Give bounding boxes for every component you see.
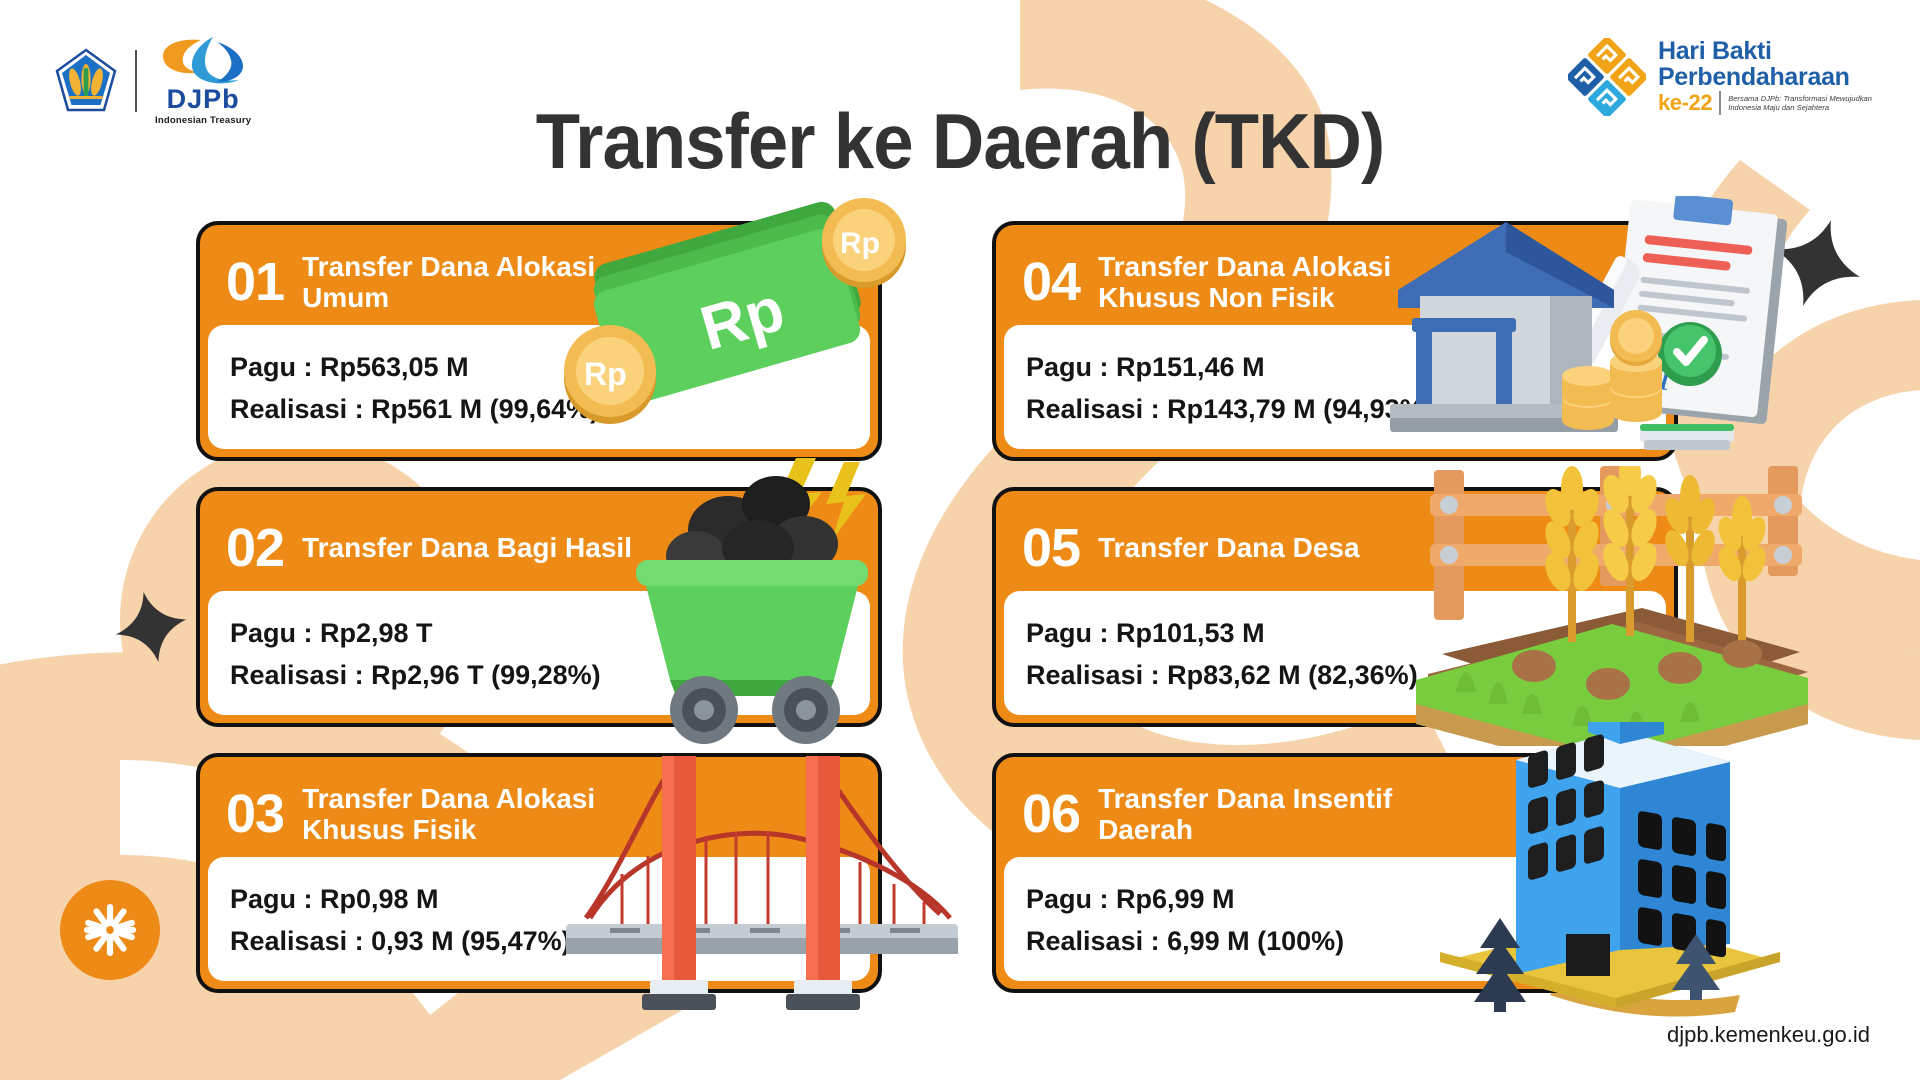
card-05-pagu: Pagu : Rp101,53 M [1026, 613, 1666, 655]
card-01-body: Pagu : Rp563,05 M Realisasi : Rp561 M (9… [208, 325, 870, 449]
djpb-logo: DJPb Indonesian Treasury [155, 36, 251, 126]
hari-bakti-tagline-line2: Indonesia Maju dan Sejahtera [1728, 103, 1872, 112]
card-04-number: 04 [1022, 255, 1080, 309]
card-02[interactable]: 02 Transfer Dana Bagi Hasil Pagu : Rp2,9… [196, 487, 882, 727]
card-01-header: 01 Transfer Dana Alokasi Umum [200, 225, 878, 325]
djpb-tagline: Indonesian Treasury [155, 115, 251, 126]
hari-bakti-line1: Hari Bakti [1658, 39, 1872, 65]
djpb-swoosh-icon [155, 36, 251, 86]
card-02-pagu: Pagu : Rp2,98 T [230, 613, 870, 655]
logo-divider [135, 50, 137, 112]
footer-url[interactable]: djpb.kemenkeu.go.id [1667, 1022, 1870, 1048]
card-03-number: 03 [226, 787, 284, 841]
card-02-header: 02 Transfer Dana Bagi Hasil [200, 491, 878, 591]
card-03-realisasi: Realisasi : 0,93 M (95,47%) [230, 921, 870, 963]
card-01-number: 01 [226, 255, 284, 309]
card-05-label: Transfer Dana Desa [1098, 532, 1359, 563]
card-05[interactable]: 05 Transfer Dana Desa Pagu : Rp101,53 M … [992, 487, 1678, 727]
card-06-number: 06 [1022, 787, 1080, 841]
card-06-label: Transfer Dana Insentif Daerah [1098, 783, 1438, 846]
hari-bakti-line2: Perbendaharaan [1658, 65, 1872, 91]
card-01-label: Transfer Dana Alokasi Umum [302, 251, 642, 314]
card-04[interactable]: 04 Transfer Dana Alokasi Khusus Non Fisi… [992, 221, 1678, 461]
card-04-header: 04 Transfer Dana Alokasi Khusus Non Fisi… [996, 225, 1674, 325]
card-06[interactable]: 06 Transfer Dana Insentif Daerah Pagu : … [992, 753, 1678, 993]
logo-left-group: DJPb Indonesian Treasury [55, 36, 251, 126]
hari-bakti-tagline: Bersama DJPb: Transformasi Mewujudkan In… [1728, 94, 1872, 113]
hari-bakti-divider [1719, 91, 1721, 115]
card-04-pagu: Pagu : Rp151,46 M [1026, 347, 1666, 389]
cards-grid: 01 Transfer Dana Alokasi Umum Pagu : Rp5… [0, 0, 1920, 1080]
card-02-number: 02 [226, 521, 284, 575]
card-06-realisasi: Realisasi : 6,99 M (100%) [1026, 921, 1666, 963]
card-01[interactable]: 01 Transfer Dana Alokasi Umum Pagu : Rp5… [196, 221, 882, 461]
card-04-realisasi: Realisasi : Rp143,79 M (94,93%) [1026, 389, 1666, 431]
card-04-body: Pagu : Rp151,46 M Realisasi : Rp143,79 M… [1004, 325, 1666, 449]
card-03-body: Pagu : Rp0,98 M Realisasi : 0,93 M (95,4… [208, 857, 870, 981]
card-02-label: Transfer Dana Bagi Hasil [302, 532, 632, 563]
logo-right-group: Hari Bakti Perbendaharaan ke-22 Bersama … [1568, 38, 1872, 116]
card-03-label: Transfer Dana Alokasi Khusus Fisik [302, 783, 642, 846]
hari-bakti-tagline-line1: Bersama DJPb: Transformasi Mewujudkan [1728, 94, 1872, 103]
card-06-body: Pagu : Rp6,99 M Realisasi : 6,99 M (100%… [1004, 857, 1666, 981]
hari-bakti-text: Hari Bakti Perbendaharaan ke-22 Bersama … [1658, 39, 1872, 115]
card-04-label: Transfer Dana Alokasi Khusus Non Fisik [1098, 251, 1438, 314]
card-06-pagu: Pagu : Rp6,99 M [1026, 879, 1666, 921]
card-05-body: Pagu : Rp101,53 M Realisasi : Rp83,62 M … [1004, 591, 1666, 715]
card-03-pagu: Pagu : Rp0,98 M [230, 879, 870, 921]
djpb-wordmark: DJPb [167, 86, 240, 113]
card-02-realisasi: Realisasi : Rp2,96 T (99,28%) [230, 655, 870, 697]
card-02-body: Pagu : Rp2,98 T Realisasi : Rp2,96 T (99… [208, 591, 870, 715]
hari-bakti-diamond-icon [1568, 38, 1646, 116]
card-03[interactable]: 03 Transfer Dana Alokasi Khusus Fisik Pa… [196, 753, 882, 993]
card-01-pagu: Pagu : Rp563,05 M [230, 347, 870, 389]
card-03-header: 03 Transfer Dana Alokasi Khusus Fisik [200, 757, 878, 857]
card-01-realisasi: Realisasi : Rp561 M (99,64%) [230, 389, 870, 431]
hari-bakti-edition: ke-22 [1658, 92, 1712, 114]
card-05-realisasi: Realisasi : Rp83,62 M (82,36%) [1026, 655, 1666, 697]
card-05-number: 05 [1022, 521, 1080, 575]
kemenkeu-emblem-icon [55, 48, 117, 114]
card-06-header: 06 Transfer Dana Insentif Daerah [996, 757, 1674, 857]
card-05-header: 05 Transfer Dana Desa [996, 491, 1674, 591]
